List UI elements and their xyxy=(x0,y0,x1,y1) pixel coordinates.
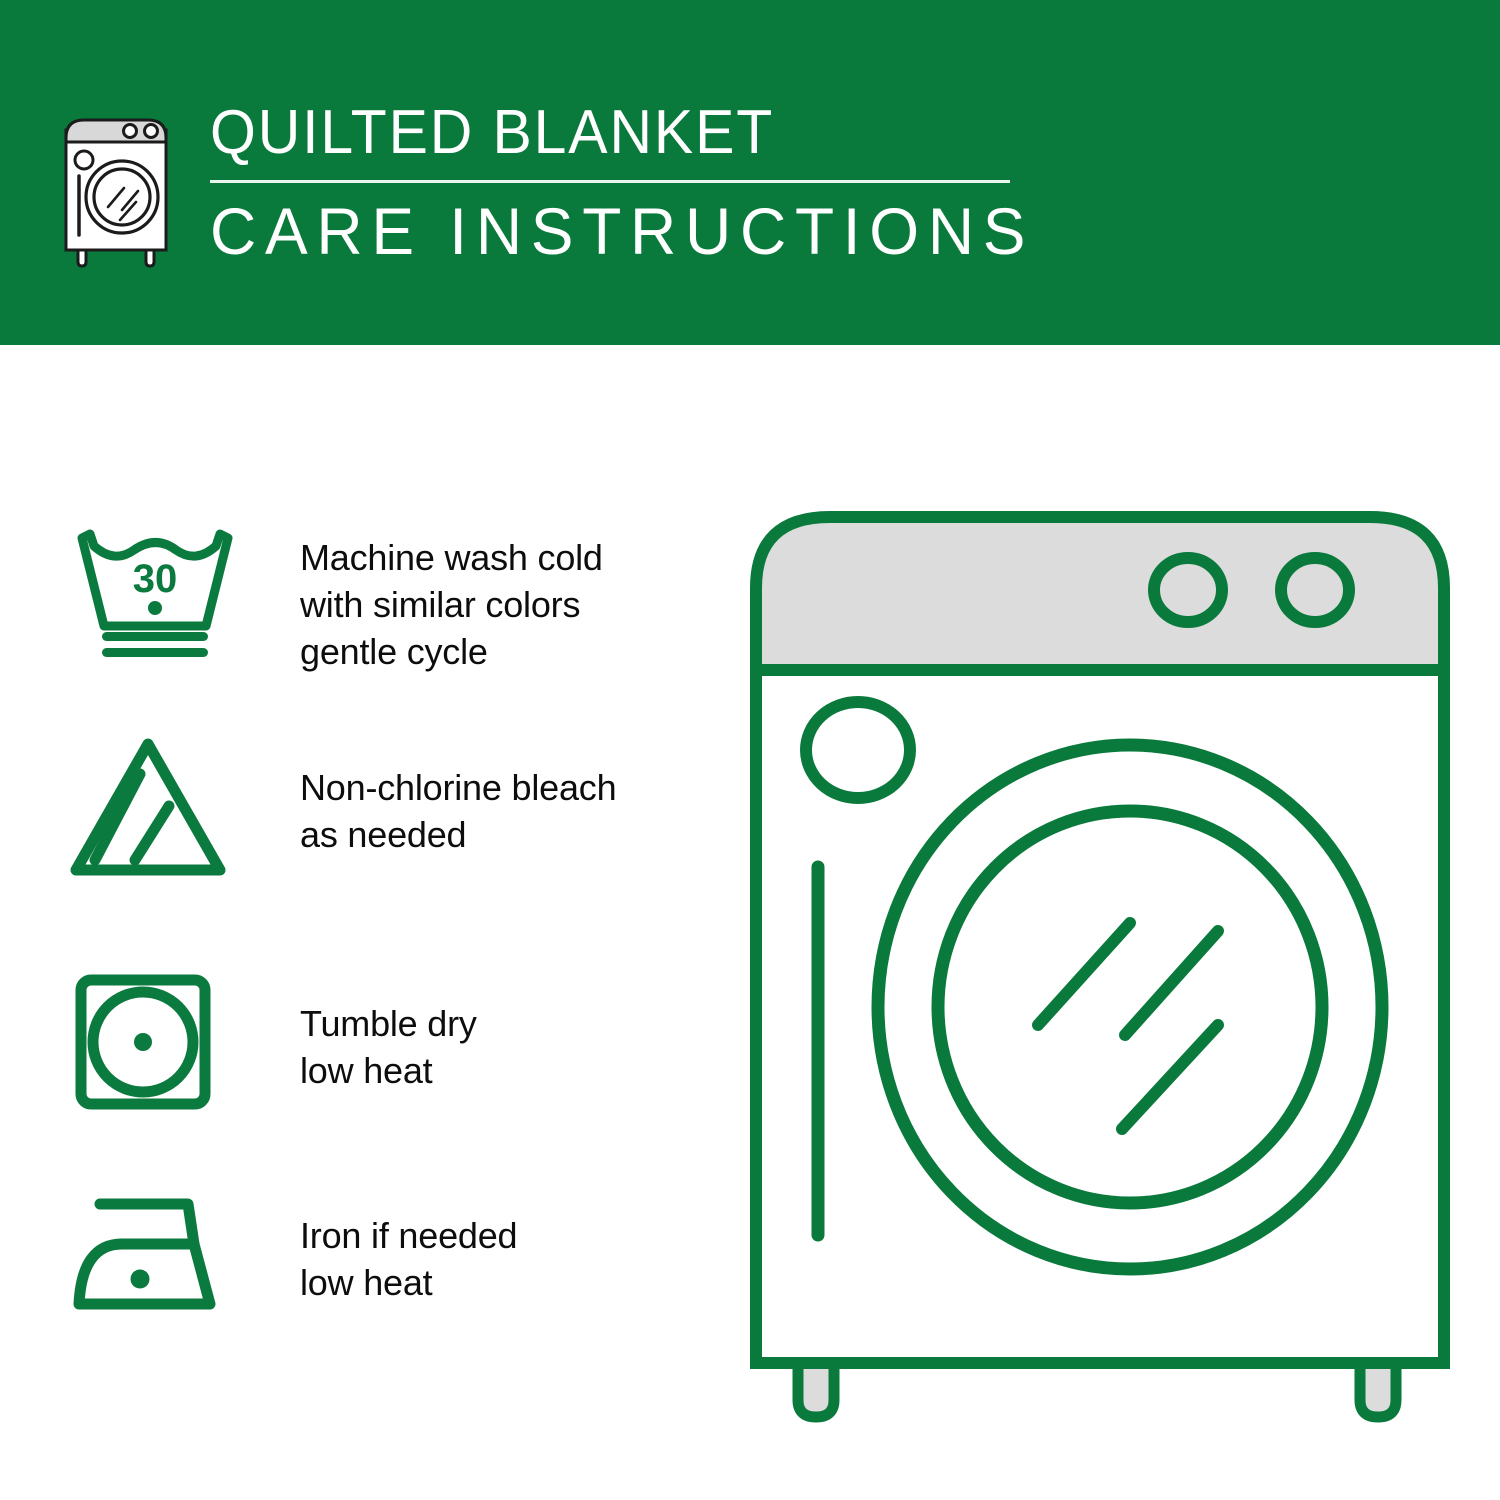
care-instruction-text: Iron if needed low heat xyxy=(245,1190,517,1306)
care-symbol-slot xyxy=(70,1190,245,1320)
care-instruction-text: Non-chlorine bleach as needed xyxy=(245,732,616,858)
care-row: Non-chlorine bleach as needed xyxy=(70,732,710,882)
care-symbol-slot xyxy=(70,972,245,1112)
care-instruction-text: Machine wash cold with similar colors ge… xyxy=(245,520,603,675)
wash-temperature-label: 30 xyxy=(133,557,178,601)
wash-tub-30-gentle-icon: 30 xyxy=(70,520,242,660)
care-row: Iron if needed low heat xyxy=(70,1190,710,1320)
washer-leg-left xyxy=(798,1363,834,1417)
washer-indicator-light xyxy=(806,702,910,798)
care-row: 30 Machine wash cold with similar colors… xyxy=(70,520,710,675)
non-chlorine-bleach-triangle-icon xyxy=(70,732,242,882)
wash-dot-icon xyxy=(148,601,162,615)
washer-drum-inner-ring xyxy=(938,811,1322,1203)
washer-knob-right[interactable] xyxy=(1281,558,1349,622)
header-titles: QUILTED BLANKET CARE INSTRUCTIONS xyxy=(210,96,1060,269)
care-row: Tumble dry low heat xyxy=(70,972,710,1112)
washer-leg-right xyxy=(1360,1363,1396,1417)
care-instruction-text: Tumble dry low heat xyxy=(245,972,477,1094)
care-symbol-slot xyxy=(70,732,245,882)
page-title: QUILTED BLANKET xyxy=(210,98,1017,168)
washing-machine-illustration xyxy=(740,495,1460,1425)
iron-dot-icon xyxy=(131,1270,150,1289)
page-header: QUILTED BLANKET CARE INSTRUCTIONS xyxy=(0,0,1500,345)
care-symbol-slot: 30 xyxy=(70,520,245,660)
title-divider xyxy=(210,180,1010,183)
tumble-dry-low-icon xyxy=(70,972,242,1112)
washing-machine-icon xyxy=(60,102,182,270)
header-content: QUILTED BLANKET CARE INSTRUCTIONS xyxy=(60,96,1060,270)
washer-knob-left[interactable] xyxy=(1154,558,1222,622)
care-instructions-page: QUILTED BLANKET CARE INSTRUCTIONS 30 xyxy=(0,0,1500,1500)
page-subtitle: CARE INSTRUCTIONS xyxy=(210,193,1034,269)
dryer-dot-icon xyxy=(134,1033,152,1051)
iron-low-heat-icon xyxy=(70,1190,242,1320)
